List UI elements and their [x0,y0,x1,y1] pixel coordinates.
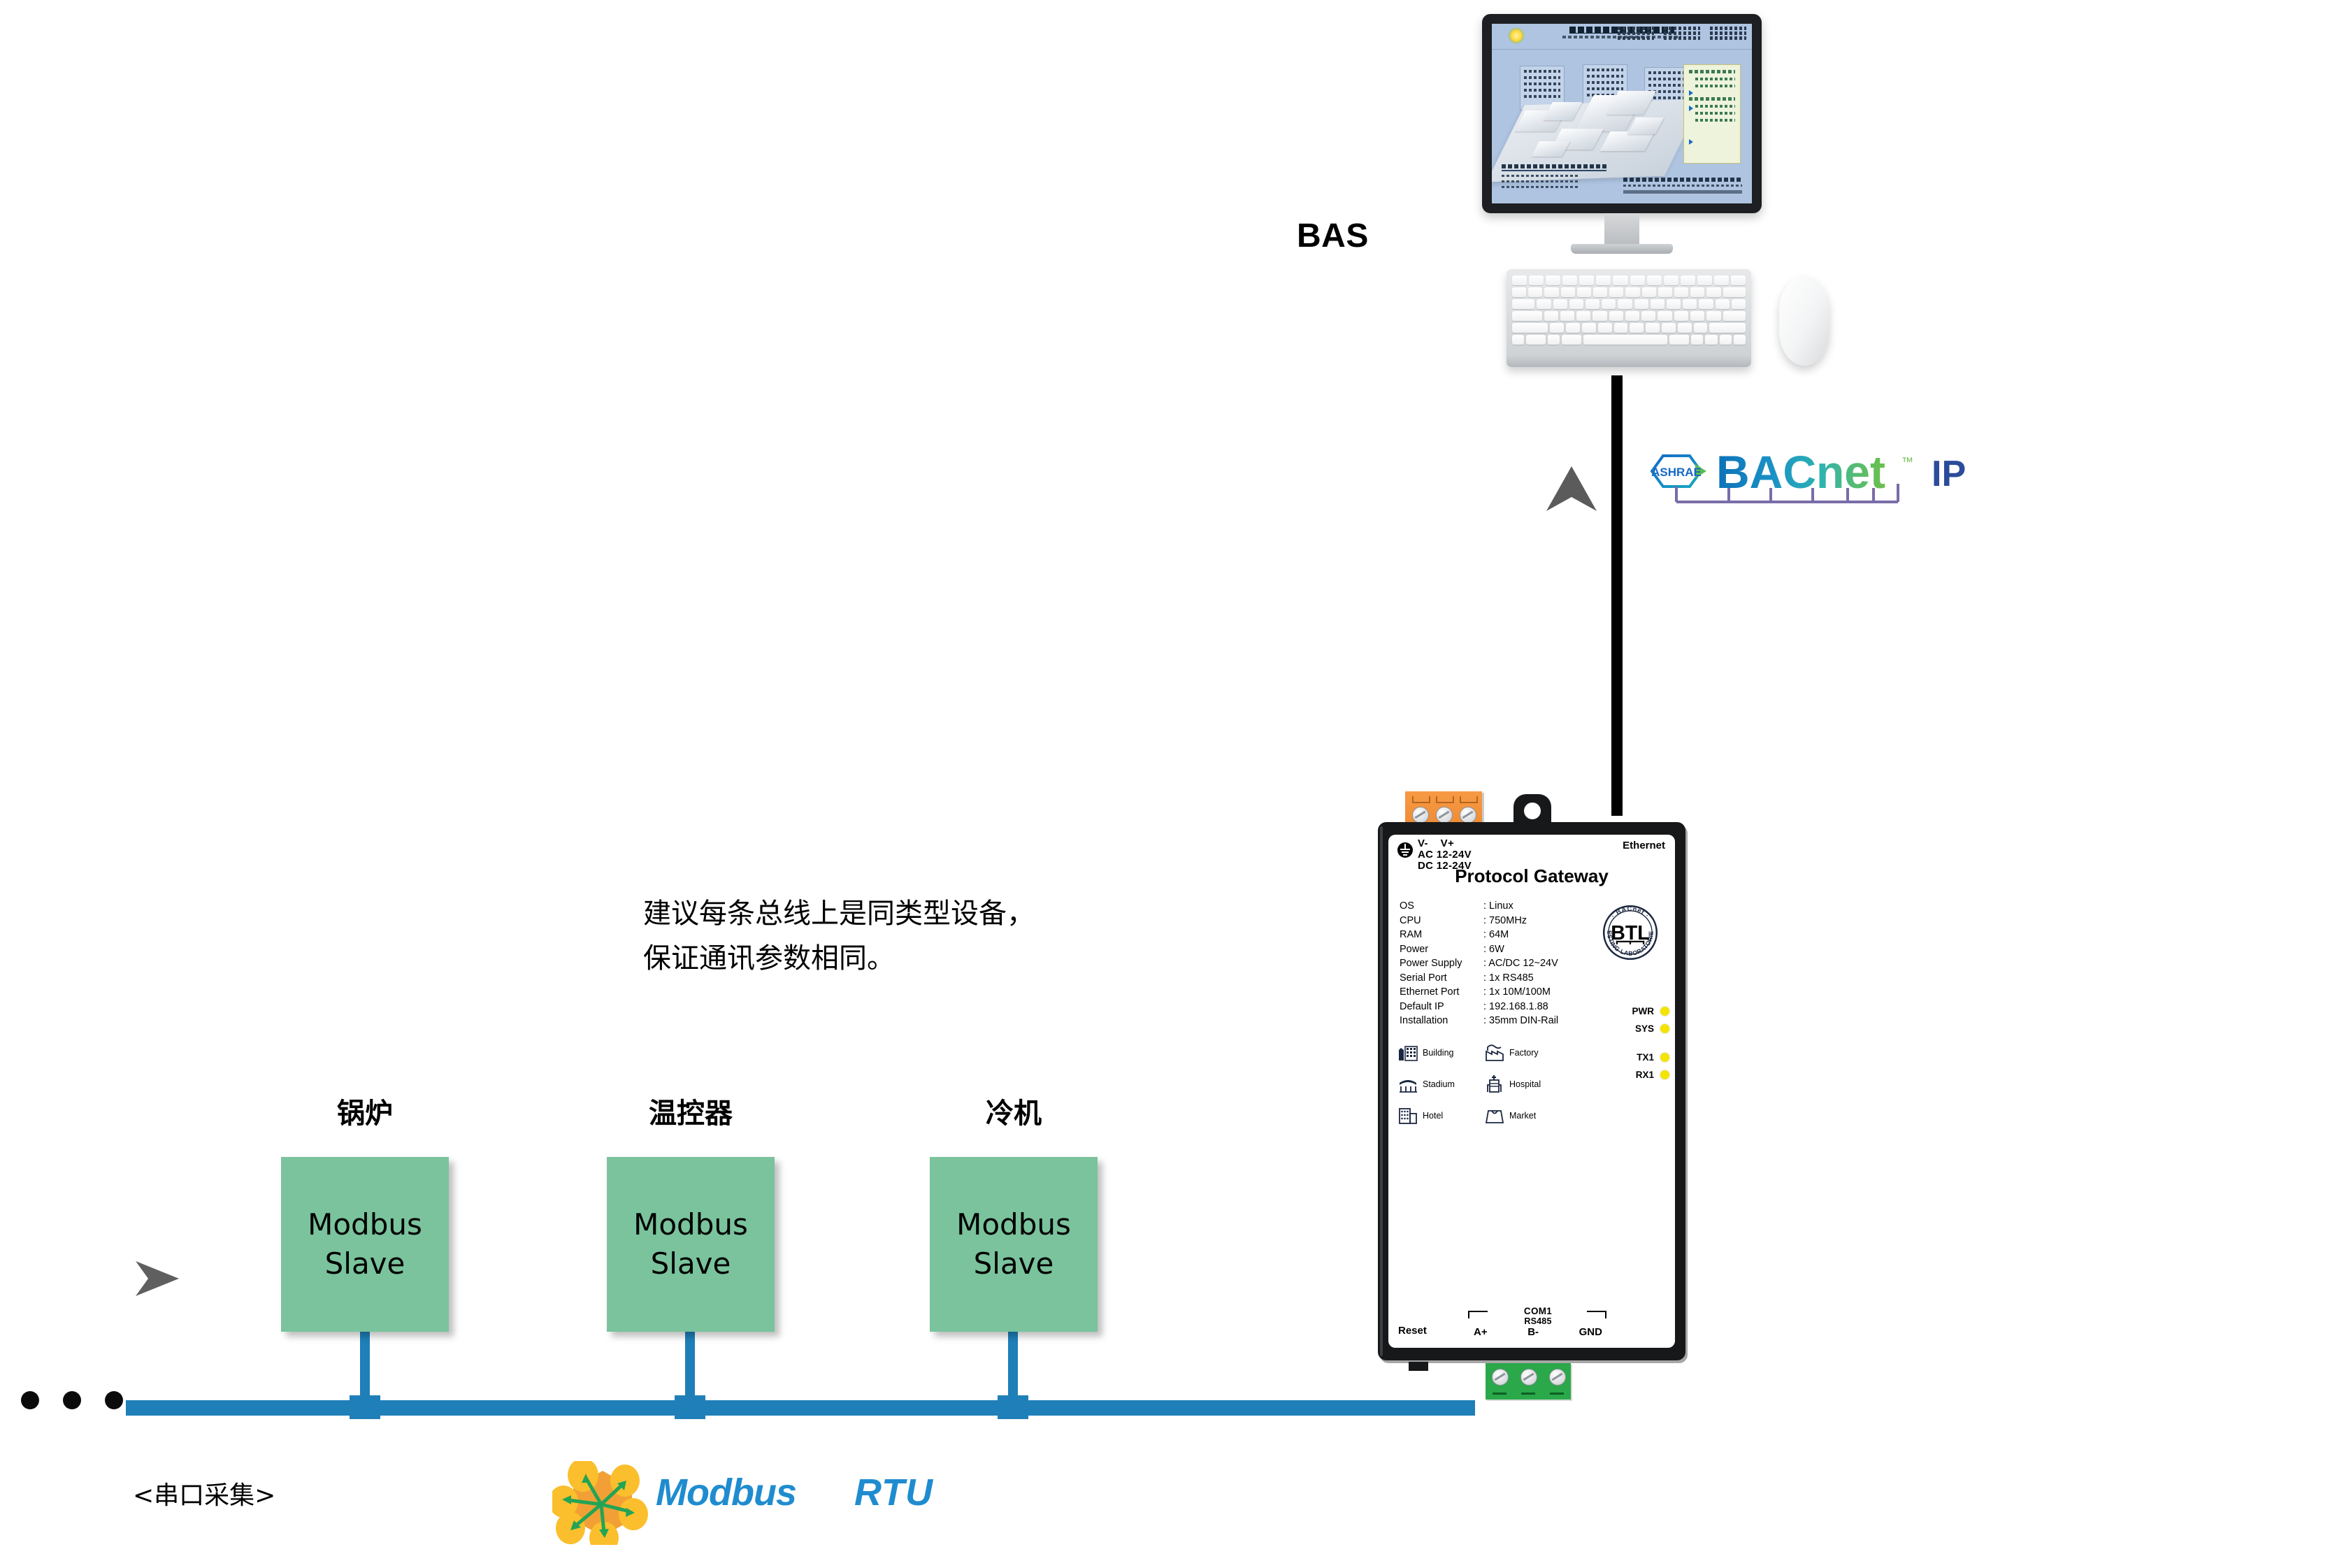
market-icon [1485,1107,1504,1124]
com1-pin-gnd: GND [1579,1326,1602,1338]
slave-device-boiler: Modbus Slave [281,1157,449,1332]
bacnet-wordmark: BACnet [1716,447,1885,498]
protocol-gateway-device: V- V+ AC 12-24V DC 12-24V Ethernet Proto… [1367,790,1685,1391]
ellipsis-dot [21,1391,39,1409]
led-indicator [1660,1070,1669,1079]
spec-row: Serial Port: 1x RS485 [1400,971,1602,986]
application-label: Hospital [1509,1079,1541,1089]
spec-key: Serial Port [1400,971,1483,986]
ellipsis-dot [63,1391,81,1409]
spec-row: RAM: 64M [1400,928,1602,942]
led-label: RX1 [1636,1070,1654,1080]
com1-name: COM1 [1461,1306,1615,1316]
application-row: Hotel Market [1398,1107,1573,1124]
reset-button-label[interactable]: Reset [1398,1325,1427,1337]
scada-logo-icon [1509,28,1524,43]
bus-tee-connector [350,1395,380,1419]
spec-value: : 1x 10M/100M [1483,985,1602,1000]
application-label: Stadium [1423,1079,1455,1089]
application-label: Factory [1509,1048,1539,1058]
application-market: Market [1485,1107,1572,1124]
application-stadium: Stadium [1398,1075,1485,1093]
application-label: Market [1509,1111,1536,1121]
application-row: Stadium Hospital [1398,1075,1573,1093]
application-hospital: Hospital [1485,1075,1572,1093]
modbus-hub-icon [552,1461,654,1545]
spec-value: : 192.168.1.88 [1483,1000,1602,1014]
spec-row: Ethernet Port: 1x 10M/100M [1400,985,1602,1000]
ethernet-port-label: Ethernet [1623,840,1665,851]
spec-value: : 750MHz [1483,914,1602,928]
spec-key: Power [1400,942,1483,957]
spec-key: Power Supply [1400,956,1483,971]
spec-key: Default IP [1400,1000,1483,1014]
hotel-icon [1398,1107,1418,1124]
slave-name-chiller: 冷机 [930,1091,1098,1131]
mouse[interactable] [1779,276,1829,366]
slave-drop-line [360,1332,370,1402]
scada-week-field [1710,27,1746,41]
bas-label: BAS [1297,217,1369,255]
monitor-bezel [1482,14,1762,213]
bacnet-ip-logo: ASHRAE BACnet ™ IP [1646,447,2017,524]
status-led-group: PWR SYS TX1 RX1 [1606,1002,1669,1084]
spec-row: OS: Linux [1400,899,1602,914]
stadium-icon [1398,1076,1418,1093]
led-label: PWR [1632,1006,1655,1016]
building-icon [1398,1044,1418,1061]
spec-key: RAM [1400,928,1483,942]
led-pwr: PWR [1606,1002,1669,1020]
spec-value: : 1x RS485 [1483,971,1602,986]
spec-value: : 64M [1483,928,1602,942]
application-row: Building Factory [1398,1044,1573,1061]
led-indicator [1660,1007,1669,1016]
din-rail-clip [1409,1362,1428,1371]
hospital-icon [1485,1075,1504,1093]
application-hotel: Hotel [1398,1107,1485,1124]
slave-device-chiller: Modbus Slave [930,1157,1098,1332]
btl-certification-logo: · BACnet · TESTING LABORATORIES BTL [1601,903,1660,962]
led-label: SYS [1635,1023,1654,1034]
scada-company-footer [1502,164,1606,188]
gateway-faceplate: V- V+ AC 12-24V DC 12-24V Ethernet Proto… [1388,835,1675,1348]
ashrae-text: ASHRAE [1651,466,1702,479]
monitor-stand-base [1571,244,1673,254]
spec-key: Ethernet Port [1400,985,1483,1000]
bacnet-ip-suffix: IP [1932,453,1966,495]
scada-clock-group [1618,27,1746,41]
scada-menu-panel[interactable] [1683,64,1741,164]
modbus-rtu-suffix: RTU [854,1471,933,1514]
application-factory: Factory [1485,1044,1572,1061]
com1-pin-a: A+ [1474,1326,1488,1338]
led-rx1: RX1 [1606,1066,1669,1084]
led-tx1: TX1 [1606,1049,1669,1066]
monitor-screen [1492,24,1752,203]
spec-row: Default IP: 192.168.1.88 [1400,1000,1602,1014]
spec-row: Power Supply: AC/DC 12~24V [1400,956,1602,971]
bus-direction-arrow-icon [133,1258,182,1302]
bacnet-tm: ™ [1901,455,1913,468]
spec-value: : 35mm DIN-Rail [1483,1014,1602,1028]
application-label: Building [1423,1048,1453,1058]
monitor-stand-neck [1604,213,1639,247]
spec-key: OS [1400,899,1483,914]
spec-value: : 6W [1483,942,1602,957]
keyboard[interactable] [1507,269,1751,367]
application-label: Hotel [1423,1111,1443,1121]
scada-clock-field [1618,27,1654,41]
factory-icon [1485,1044,1504,1061]
spec-row: CPU: 750MHz [1400,914,1602,928]
spec-row: Power: 6W [1400,942,1602,957]
slave-body-label: Modbus Slave [956,1205,1071,1283]
slave-name-thermostat: 温控器 [607,1091,775,1131]
bus-tee-connector [998,1395,1028,1419]
slave-name-boiler: 锅炉 [281,1091,449,1131]
serial-acquisition-label: <串口采集> [133,1475,275,1511]
bus-continuation-ellipsis [21,1391,123,1409]
ground-icon [1397,842,1414,858]
application-icon-grid: Building Factory [1398,1044,1573,1138]
scada-date-field [1664,27,1700,41]
spec-key: CPU [1400,914,1483,928]
slave-drop-line [685,1332,695,1402]
led-label: TX1 [1637,1052,1654,1063]
bus-recommendation-note: 建议每条总线上是同类型设备， 保证通讯参数相同。 [643,891,1035,981]
led-indicator [1660,1024,1669,1033]
bus-tee-connector [675,1395,705,1419]
spec-key: Installation [1400,1014,1483,1028]
modbus-rtu-logo: Modbus RTU [552,1461,986,1545]
slave-body-label: Modbus Slave [633,1205,748,1283]
application-building: Building [1398,1044,1485,1061]
ellipsis-dot [105,1391,123,1409]
modbus-wordmark: Modbus [656,1471,796,1514]
led-indicator [1660,1053,1669,1062]
scada-company-footer-right [1623,178,1742,194]
slave-body-label: Modbus Slave [308,1205,422,1283]
led-sys: SYS [1606,1020,1669,1037]
com1-pin-b: B- [1527,1326,1539,1338]
modbus-rtu-bus-line [126,1400,1475,1416]
scada-topbar [1492,24,1752,50]
spec-value: : AC/DC 12~24V [1483,956,1602,971]
gateway-title: Protocol Gateway [1388,865,1675,887]
rs485-terminal-block [1486,1363,1571,1400]
slave-device-thermostat: Modbus Slave [607,1157,775,1332]
gateway-spec-table: OS: Linux CPU: 750MHz RAM: 64M Power: 6W… [1400,899,1602,1028]
spec-value: : Linux [1483,899,1602,914]
com1-terminal-legend: COM1 RS485 A+ B- GND [1461,1306,1615,1338]
ethernet-cable [1611,375,1623,816]
slave-drop-line [1008,1332,1018,1402]
spec-row: Installation: 35mm DIN-Rail [1400,1014,1602,1028]
